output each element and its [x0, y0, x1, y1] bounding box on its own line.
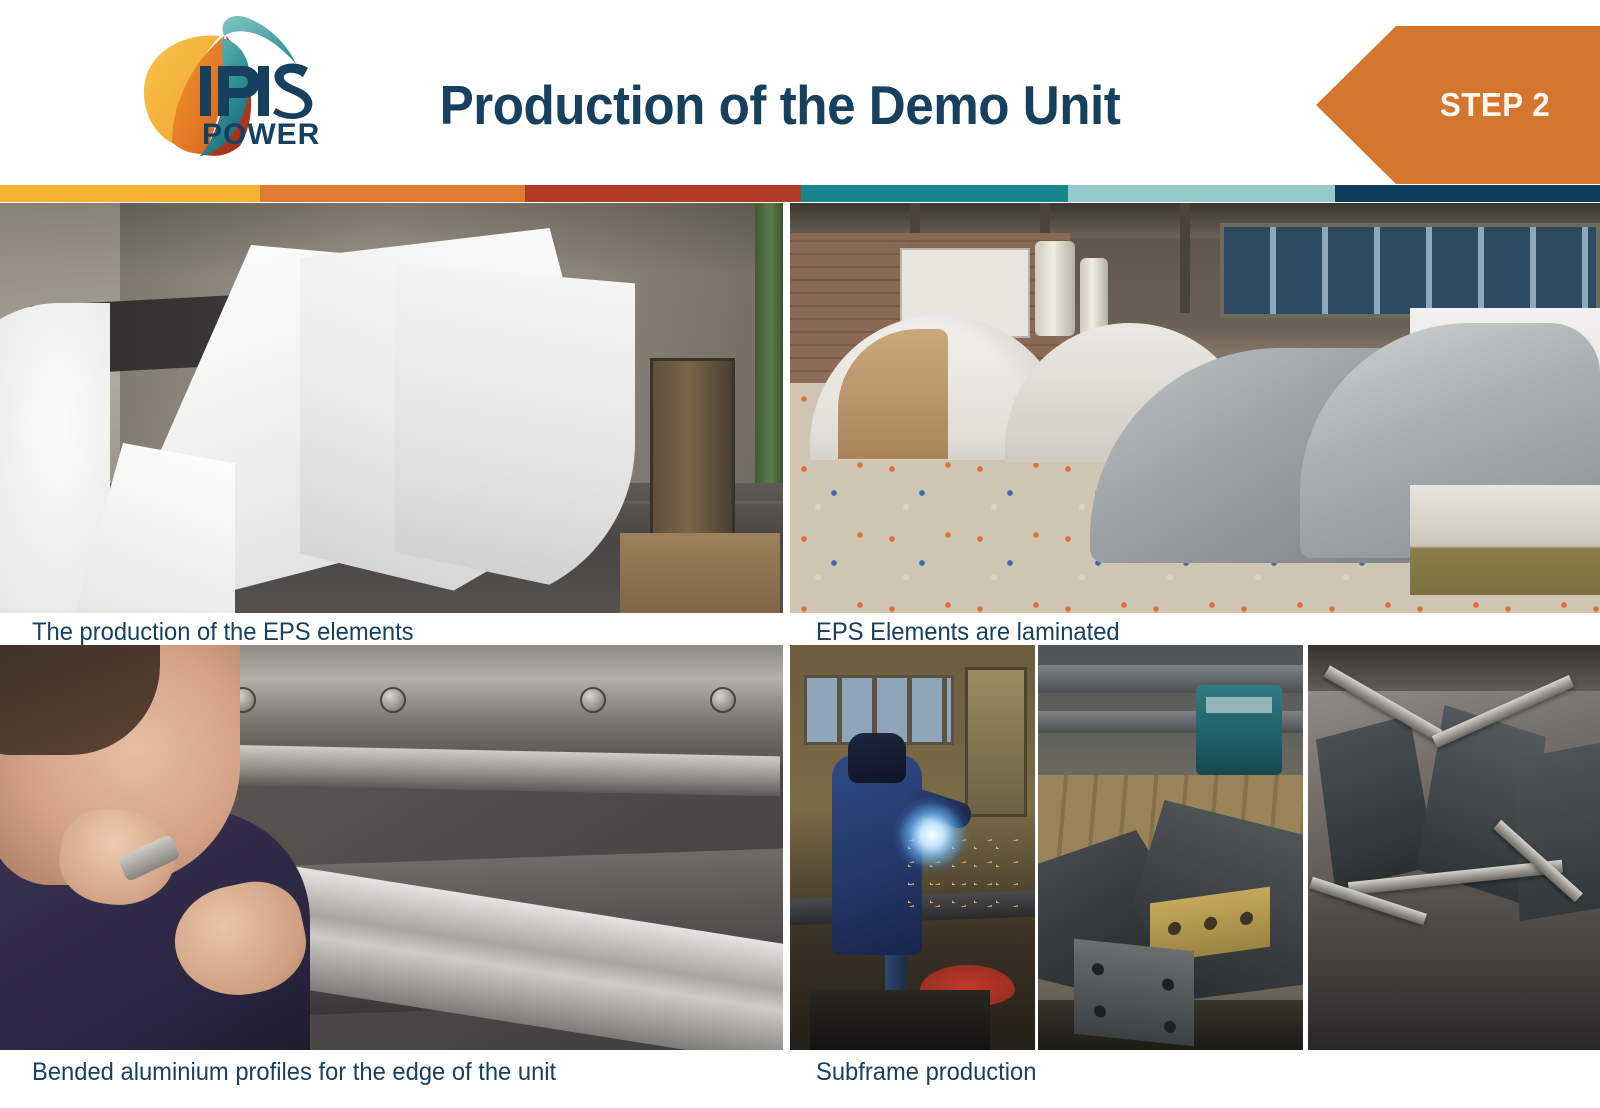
bolt-icon: [580, 687, 606, 713]
bolt-icon: [380, 687, 406, 713]
caption-top-left: The production of the EPS elements: [32, 618, 414, 647]
page-title: Production of the Demo Unit: [362, 60, 1199, 150]
caption-top-right: EPS Elements are laminated: [816, 618, 1120, 647]
photo-gap: [1303, 645, 1308, 1050]
photo-beam: [1180, 203, 1190, 313]
caption-bottom-right: Subframe production: [816, 1058, 1036, 1087]
eps-elements-laminated-photo: [790, 203, 1600, 613]
bar-teal: [801, 185, 1068, 202]
bar-light-teal: [1068, 185, 1335, 202]
photo-floor: [1308, 895, 1600, 1050]
bar-red: [525, 185, 801, 202]
step-badge: STEP 2: [1316, 26, 1600, 184]
bar-yellow: [0, 185, 260, 202]
bolt-hole-icon: [1092, 963, 1104, 976]
wooden-frame: [650, 358, 735, 558]
slide-root: POWER Production of the Demo Unit STEP 2: [0, 0, 1600, 1108]
bolt-hole-icon: [1162, 978, 1174, 991]
bolt-hole-icon: [1240, 911, 1253, 926]
wooden-pallet: [620, 533, 780, 613]
photo-material-roll: [1035, 241, 1075, 336]
photo-door: [965, 667, 1027, 817]
photo-gap: [1035, 645, 1038, 1050]
steel-panel-3: [1514, 741, 1600, 921]
subframe-welded-braces-photo: [1308, 645, 1600, 1050]
subframe-steel-plates-photo: [1038, 645, 1303, 1050]
welding-machine: [1196, 685, 1282, 775]
bolt-hole-icon: [1204, 916, 1217, 931]
work-table: [1410, 485, 1600, 595]
bolt-hole-icon: [1168, 921, 1181, 936]
bar-navy: [1335, 185, 1600, 202]
bolt-hole-icon: [1164, 1020, 1176, 1033]
iris-power-logo: POWER: [72, 14, 332, 174]
step-badge-label: STEP 2: [1440, 86, 1550, 124]
welding-subframe-photo: [790, 645, 1035, 1050]
photo-window-band: [1220, 223, 1600, 318]
bending-aluminium-profile-photo: [0, 645, 783, 1050]
bolt-icon: [710, 687, 736, 713]
caption-bottom-left: Bended aluminium profiles for the edge o…: [32, 1058, 556, 1087]
accent-color-bar: [0, 185, 1600, 202]
eps-elements-production-photo: [0, 203, 783, 613]
logo-wordmark-power: POWER: [202, 118, 320, 151]
steel-plate-front: [1074, 939, 1194, 1047]
weld-arc-flash: [894, 797, 970, 873]
slide-header: POWER Production of the Demo Unit STEP 2: [0, 0, 1600, 185]
bolt-hole-icon: [1094, 1005, 1106, 1018]
bar-orange: [260, 185, 525, 202]
photo-gap: [783, 645, 790, 1050]
dark-crate: [810, 990, 990, 1050]
welder-helmet: [848, 733, 906, 783]
